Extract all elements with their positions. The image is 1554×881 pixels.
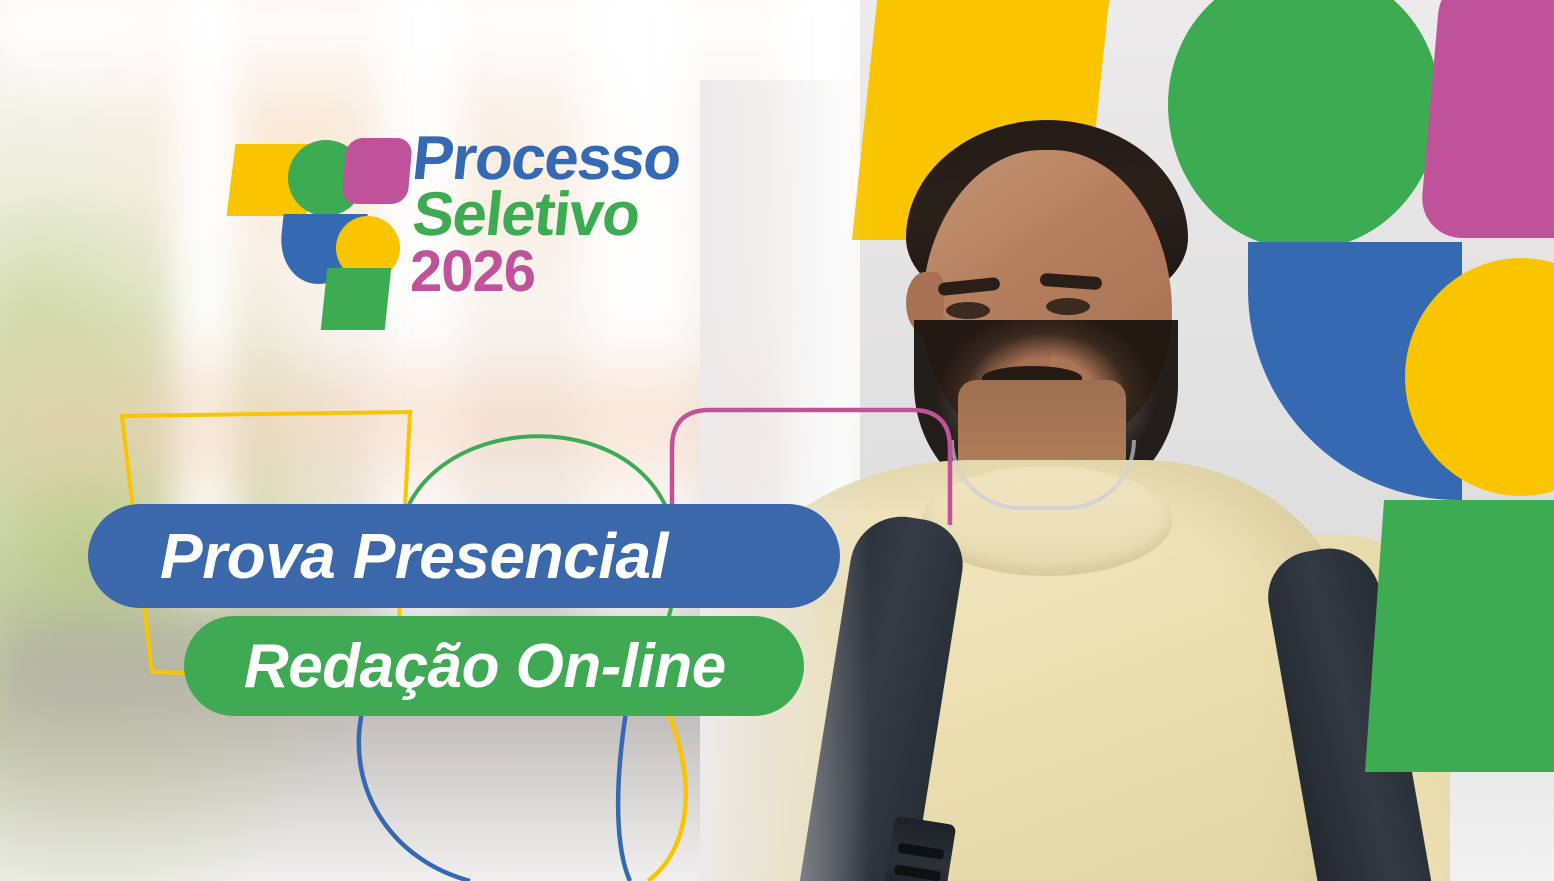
logo-line-seletivo: Seletivo — [410, 187, 796, 243]
promo-banner: Processo Seletivo 2026 Prova Presencial … — [0, 0, 1554, 881]
photo-strap-buckle — [882, 816, 957, 881]
shape-green-rectangle — [1365, 500, 1554, 772]
logo-wordmark: Processo Seletivo 2026 — [410, 134, 790, 298]
logo-mark — [228, 136, 398, 316]
pill-redacao-online: Redação On-line — [184, 616, 804, 716]
logo-green-parallelogram-icon — [321, 268, 392, 330]
background-warm-band — [0, 330, 760, 530]
processo-seletivo-logo: Processo Seletivo 2026 — [228, 136, 788, 326]
pill-redacao-online-label: Redação On-line — [244, 631, 726, 702]
logo-magenta-rounded-square-icon — [341, 138, 413, 204]
pill-prova-presencial: Prova Presencial — [88, 504, 840, 608]
logo-line-processo: Processo — [410, 134, 795, 185]
pill-prova-presencial-label: Prova Presencial — [160, 519, 668, 593]
photo-eye — [1046, 298, 1090, 315]
logo-year: 2026 — [410, 245, 790, 298]
photo-eye — [946, 302, 990, 319]
